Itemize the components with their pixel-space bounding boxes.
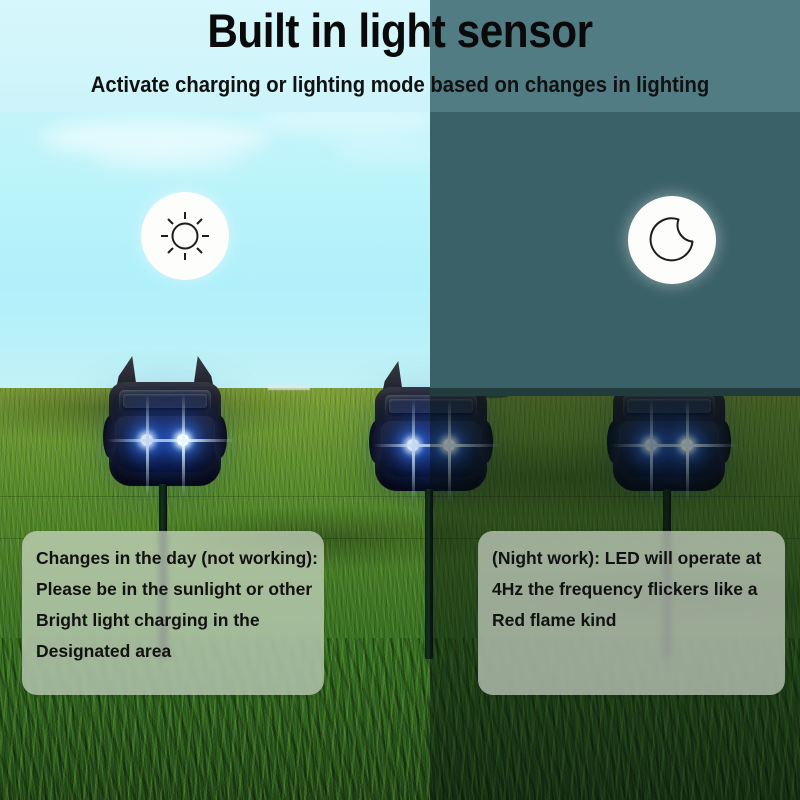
led-eye-right (177, 434, 189, 446)
caption-line: Changes in the day (not working): (36, 543, 324, 574)
cloud (95, 150, 245, 172)
moon-icon (647, 215, 697, 265)
page-subtitle: Activate charging or lighting mode based… (32, 72, 768, 98)
product-feature-image: Built in light sensor Activate charging … (0, 0, 800, 800)
led-eye-left (645, 439, 657, 451)
led-eye-right (681, 439, 693, 451)
page-title: Built in light sensor (40, 4, 760, 58)
device-visor (115, 416, 215, 472)
day-mode-badge (141, 192, 229, 280)
distant-structure (268, 385, 310, 390)
solar-panel (627, 399, 711, 413)
cloud (330, 140, 450, 160)
sun-icon (159, 210, 211, 262)
caption-line: Designated area (36, 636, 324, 667)
night-mode-badge (628, 196, 716, 284)
led-eye-right (443, 439, 455, 451)
solar-panel (123, 394, 207, 408)
led-eye-left (141, 434, 153, 446)
ground-stake (425, 489, 433, 659)
caption-line: Please be in the sunlight or other (36, 574, 324, 605)
caption-line: Red flame kind (492, 605, 785, 636)
device-visor (381, 421, 481, 477)
caption-line: (Night work): LED will operate at (492, 543, 785, 574)
solar-panel (389, 399, 473, 413)
caption-night: (Night work): LED will operate at 4Hz th… (478, 531, 785, 695)
solar-repeller-center (375, 361, 487, 586)
led-eye-left (407, 439, 419, 451)
caption-line: Bright light charging in the (36, 605, 324, 636)
caption-line: 4Hz the frequency flickers like a (492, 574, 785, 605)
caption-day: Changes in the day (not working): Please… (22, 531, 324, 695)
device-visor (619, 421, 719, 477)
